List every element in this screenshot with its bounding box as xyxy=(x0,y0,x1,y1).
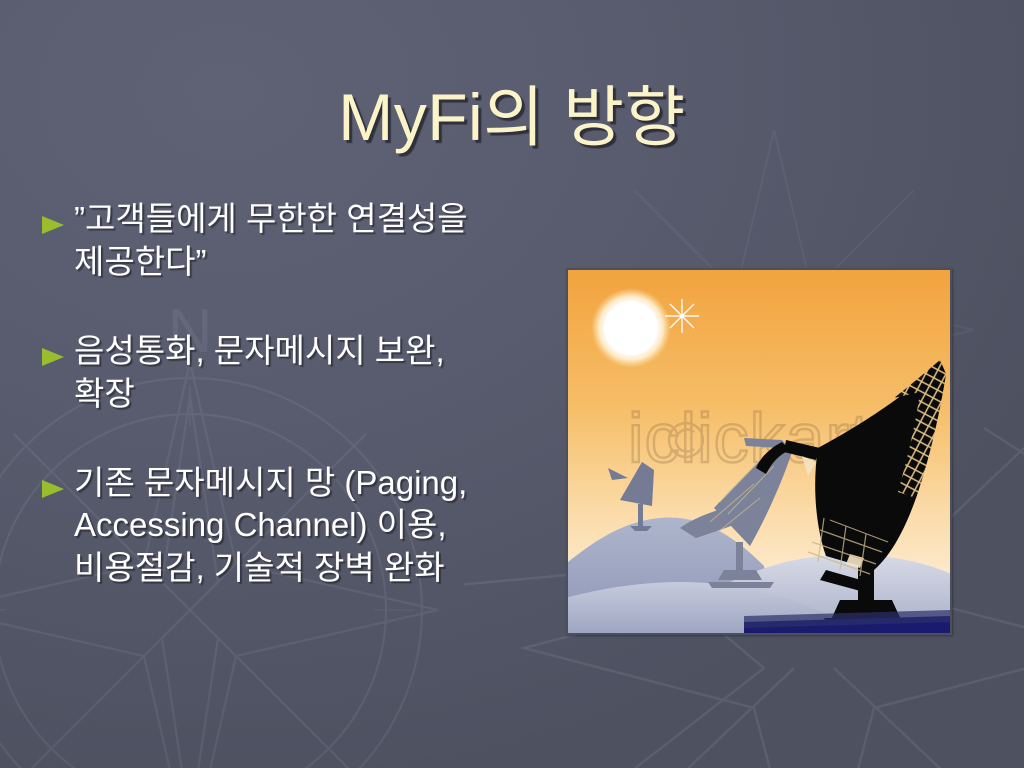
page-title: MyFi의 방향 xyxy=(338,82,685,153)
list-item: ”고객들에게 무한한 연결성을 제공한다” xyxy=(40,198,510,284)
list-item-label: 기존 문자메시지 망 (Paging, Accessing Channel) 이… xyxy=(74,462,510,591)
bullet-list: ”고객들에게 무한한 연결성을 제공한다” 음성통화, 문자메시지 보완, 확장… xyxy=(40,198,510,590)
presentation-slide: N S MyFi의 방향 ”고객들 xyxy=(0,0,1024,768)
triangle-right-bullet-icon xyxy=(40,478,66,500)
list-item: 음성통화, 문자메시지 보완, 확장 xyxy=(40,330,510,416)
list-item-label: 음성통화, 문자메시지 보완, 확장 xyxy=(74,330,510,416)
list-item-label: ”고객들에게 무한한 연결성을 제공한다” xyxy=(74,198,510,284)
list-item: 기존 문자메시지 망 (Paging, Accessing Channel) 이… xyxy=(40,462,510,591)
slide-image-frame: iclickart xyxy=(566,268,952,635)
triangle-right-bullet-icon xyxy=(40,346,66,368)
title-area: MyFi의 방향 xyxy=(0,38,1024,198)
triangle-right-bullet-icon xyxy=(40,214,66,236)
satellite-dishes-sunset-image: iclickart xyxy=(568,270,950,633)
